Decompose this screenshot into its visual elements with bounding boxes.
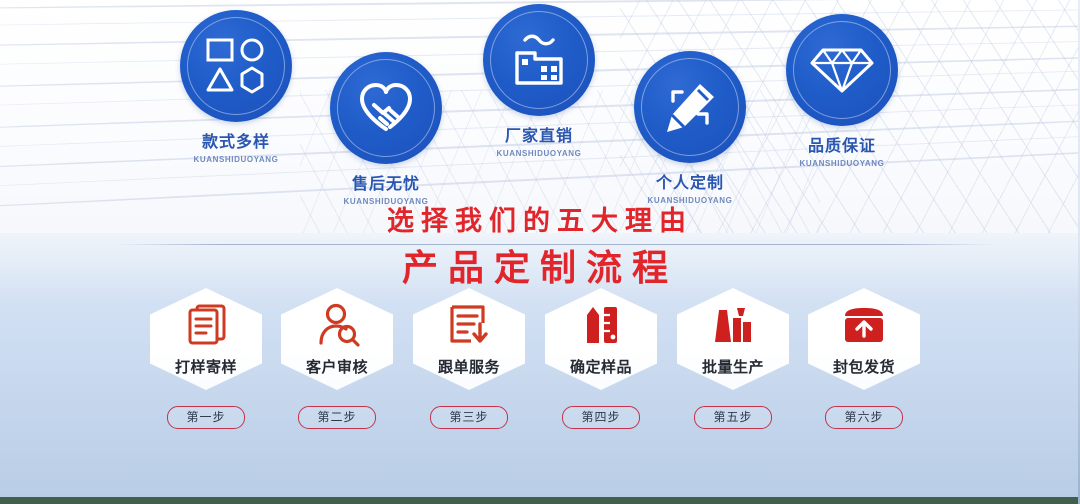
feature-title: 个人定制 xyxy=(634,175,746,193)
step-badge: 第四步 xyxy=(562,406,640,429)
process-step-5[interactable]: 批量生产 第五步 xyxy=(677,288,789,429)
feature-subtitle: KUANSHIDUOYANG xyxy=(483,149,595,158)
headline-process: 产品定制流程 xyxy=(0,239,1080,291)
step-hexagon: 打样寄样 xyxy=(150,288,262,390)
package-up-icon xyxy=(841,305,887,345)
step-badge: 第一步 xyxy=(167,406,245,429)
step-badge: 第五步 xyxy=(694,406,772,429)
feature-item-5[interactable]: 品质保证 KUANSHIDUOYANG xyxy=(786,14,898,168)
feature-item-4[interactable]: 个人定制 KUANSHIDUOYANG xyxy=(634,51,746,205)
step-badge: 第二步 xyxy=(298,406,376,429)
step-hexagon: 确定样品 xyxy=(545,288,657,390)
feature-title: 品质保证 xyxy=(786,138,898,156)
sample-swatch-icon xyxy=(581,303,621,347)
feature-title: 款式多样 xyxy=(180,134,292,152)
step-hexagon: 批量生产 xyxy=(677,288,789,390)
step-label: 跟单服务 xyxy=(438,356,500,377)
feature-subtitle: KUANSHIDUOYANG xyxy=(786,159,898,168)
handshake-heart-icon xyxy=(356,80,416,136)
factory-icon xyxy=(509,31,569,89)
headline-reasons: 选择我们的五大理由 xyxy=(0,199,1080,238)
footer-strip xyxy=(0,497,1080,504)
process-step-6[interactable]: 封包发货 第六步 xyxy=(808,288,920,429)
feature-subtitle: KUANSHIDUOYANG xyxy=(180,155,292,164)
step-label: 打样寄样 xyxy=(175,356,237,377)
step-hexagon: 跟单服务 xyxy=(413,288,525,390)
step-badge: 第三步 xyxy=(430,406,508,429)
factory-production-icon xyxy=(711,304,755,346)
feature-circle-1 xyxy=(180,10,292,122)
process-step-2[interactable]: 客户审核 第二步 xyxy=(281,288,393,429)
feature-circle-2 xyxy=(330,52,442,164)
document-download-icon xyxy=(447,303,491,347)
feature-title: 售后无忧 xyxy=(330,176,442,194)
shapes-icon xyxy=(205,37,267,95)
feature-item-3[interactable]: 厂家直销 KUANSHIDUOYANG xyxy=(483,4,595,158)
step-hexagon: 客户审核 xyxy=(281,288,393,390)
feature-circle-3 xyxy=(483,4,595,116)
step-label: 封包发货 xyxy=(833,356,895,377)
user-search-icon xyxy=(314,303,360,347)
pen-design-icon xyxy=(660,78,720,136)
process-step-1[interactable]: 打样寄样 第一步 xyxy=(150,288,262,429)
feature-circle-5 xyxy=(786,14,898,126)
process-step-3[interactable]: 跟单服务 第三步 xyxy=(413,288,525,429)
step-label: 确定样品 xyxy=(570,356,632,377)
feature-title: 厂家直销 xyxy=(483,128,595,146)
diamond-icon xyxy=(810,44,874,96)
step-label: 批量生产 xyxy=(702,356,764,377)
process-step-4[interactable]: 确定样品 第四步 xyxy=(545,288,657,429)
documents-icon xyxy=(184,303,228,347)
step-badge: 第六步 xyxy=(825,406,903,429)
promo-banner: 款式多样 KUANSHIDUOYANG 售后无忧 KUANSHIDUOYANG xyxy=(0,0,1080,504)
feature-circle-4 xyxy=(634,51,746,163)
step-label: 客户审核 xyxy=(306,356,368,377)
feature-item-1[interactable]: 款式多样 KUANSHIDUOYANG xyxy=(180,10,292,164)
feature-item-2[interactable]: 售后无忧 KUANSHIDUOYANG xyxy=(330,52,442,206)
step-hexagon: 封包发货 xyxy=(808,288,920,390)
